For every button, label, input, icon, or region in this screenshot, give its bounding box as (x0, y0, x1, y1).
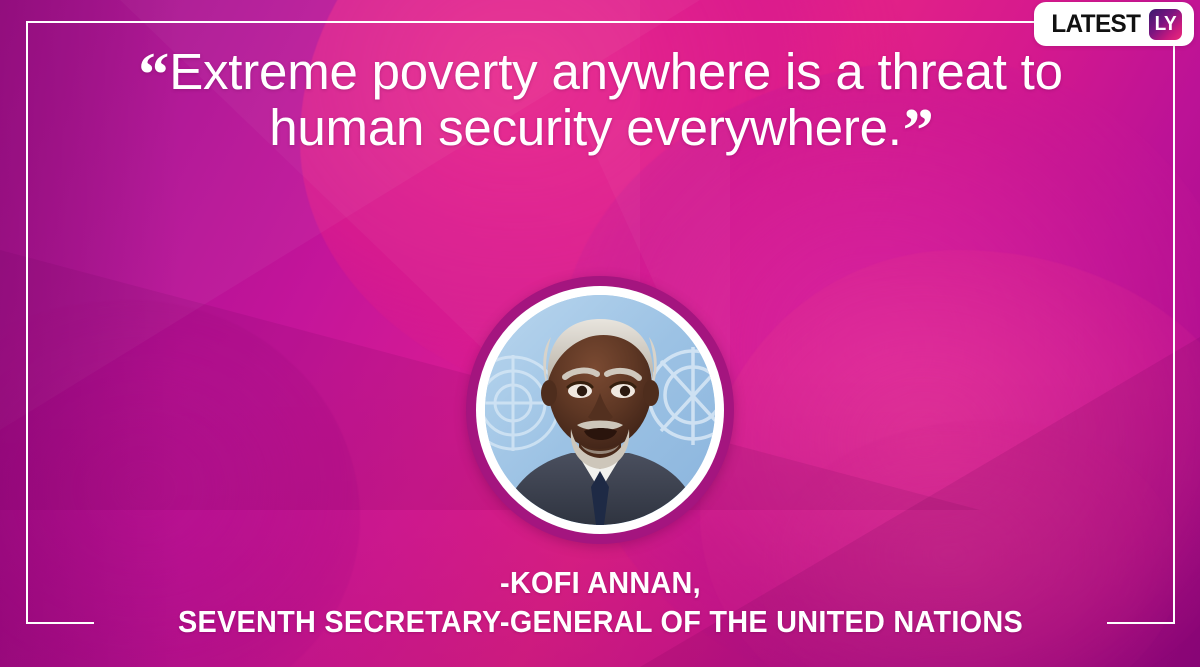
portrait-illustration (485, 295, 715, 525)
logo-badge: LY (1149, 9, 1182, 40)
attribution-title: SEVENTH SECRETARY-GENERAL OF THE UNITED … (66, 602, 1135, 641)
avatar (485, 295, 715, 525)
quote-text: “Extreme poverty anywhere is a threat to… (26, 44, 1175, 156)
frame-border-top (26, 21, 1175, 23)
logo-wordmark: LATEST (1052, 10, 1141, 39)
logo-badge-text: LY (1155, 13, 1177, 36)
close-quote-icon: ” (903, 97, 932, 165)
portrait-ring (466, 276, 734, 544)
open-quote-icon: “ (138, 41, 167, 109)
quote-line-1: “Extreme poverty anywhere is a threat to (26, 44, 1175, 100)
latestly-logo[interactable]: LATEST LY (1034, 2, 1194, 46)
quote-line-2-text: human security everywhere. (269, 99, 902, 156)
quote-line-2: human security everywhere.” (26, 100, 1175, 156)
quote-card: “Extreme poverty anywhere is a threat to… (0, 0, 1200, 667)
attribution: -KOFI ANNAN, SEVENTH SECRETARY-GENERAL O… (26, 563, 1175, 641)
quote-line-1-text: Extreme poverty anywhere is a threat to (169, 43, 1063, 100)
attribution-name: -KOFI ANNAN, (66, 563, 1135, 602)
